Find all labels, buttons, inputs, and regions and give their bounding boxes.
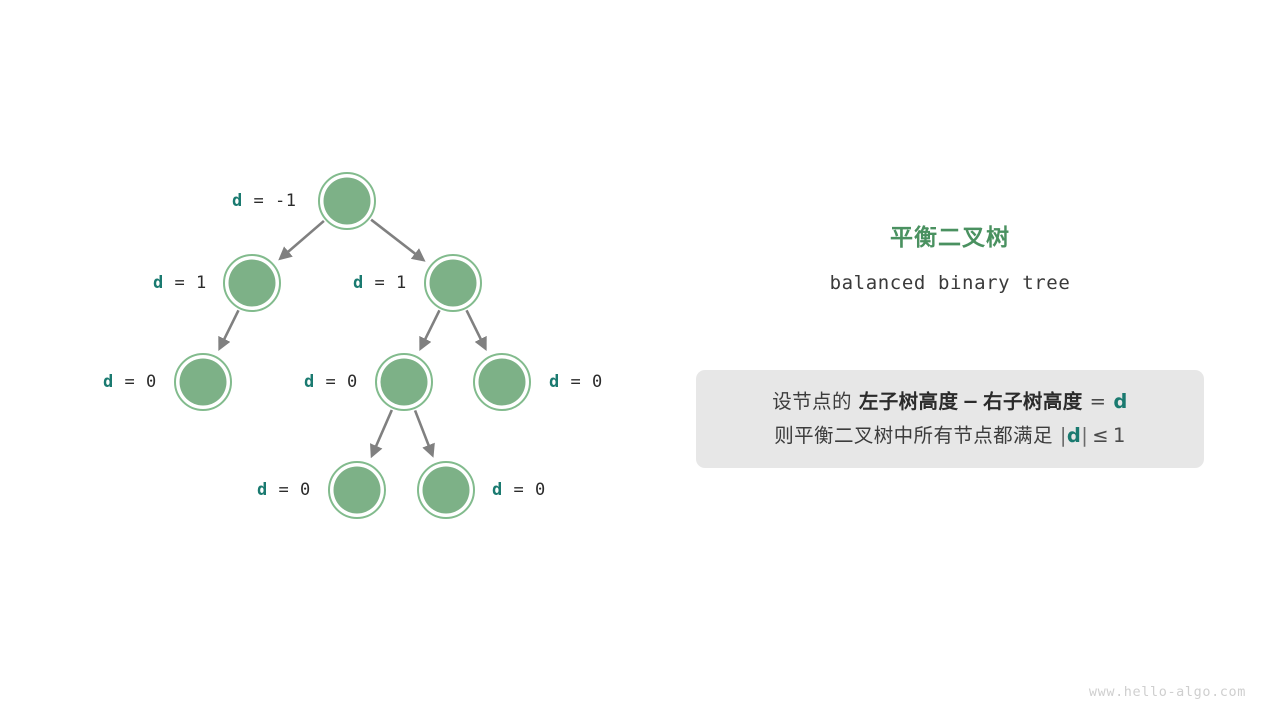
tree-edge xyxy=(280,221,324,259)
binary-tree-graphic xyxy=(0,0,1280,720)
definition-box: 设节点的左子树高度−右子树高度=d 则平衡二叉树中所有节点都满足|d|≤1 xyxy=(696,370,1204,468)
label-value: 0 xyxy=(535,480,546,500)
label-variable: d xyxy=(103,372,114,392)
label-equals: = xyxy=(243,191,275,211)
tree-node-n-ll[interactable] xyxy=(180,359,227,406)
label-equals: = xyxy=(503,480,535,500)
label-equals: = xyxy=(268,480,300,500)
definition-condition-prefix: 则平衡二叉树中所有节点都满足 xyxy=(774,424,1053,447)
label-variable: d xyxy=(353,273,364,293)
balance-factor-label-root: d = -1 xyxy=(232,193,296,210)
equals-operator: = xyxy=(1090,390,1107,413)
label-variable: d xyxy=(257,480,268,500)
label-value: -1 xyxy=(275,191,296,211)
balance-factor-label-n-ll: d = 0 xyxy=(103,374,157,391)
label-variable: d xyxy=(232,191,243,211)
panel-subtitle: balanced binary tree xyxy=(696,272,1204,294)
definition-line-2: 则平衡二叉树中所有节点都满足|d|≤1 xyxy=(774,419,1126,453)
label-value: 1 xyxy=(196,273,207,293)
diagram-canvas: d = -1d = 1d = 1d = 0d = 0d = 0d = 0d = … xyxy=(0,0,1280,720)
balance-factor-symbol: d xyxy=(1113,390,1127,413)
label-equals: = xyxy=(364,273,396,293)
label-variable: d xyxy=(304,372,315,392)
label-value: 0 xyxy=(592,372,603,392)
tree-edge xyxy=(415,410,432,455)
tree-nodes xyxy=(175,173,530,518)
label-equals: = xyxy=(315,372,347,392)
tree-node-n-rlr[interactable] xyxy=(423,467,470,514)
abs-bar-right: | xyxy=(1081,424,1088,447)
minus-operator: − xyxy=(962,390,979,413)
label-value: 0 xyxy=(347,372,358,392)
tree-node-root[interactable] xyxy=(324,178,371,225)
tree-node-n-rl[interactable] xyxy=(381,359,428,406)
balance-factor-label-n-rl: d = 0 xyxy=(304,374,358,391)
tree-node-n-rll[interactable] xyxy=(334,467,381,514)
tree-edge xyxy=(467,310,486,348)
abs-bar-left: | xyxy=(1060,424,1067,447)
label-value: 0 xyxy=(146,372,157,392)
bound-value: 1 xyxy=(1113,424,1126,447)
label-variable: d xyxy=(492,480,503,500)
tree-node-n-l[interactable] xyxy=(229,260,276,307)
label-equals: = xyxy=(560,372,592,392)
definition-line-1: 设节点的左子树高度−右子树高度=d xyxy=(772,385,1128,419)
label-value: 0 xyxy=(300,480,311,500)
tree-edge xyxy=(371,220,423,260)
balance-factor-label-n-rlr: d = 0 xyxy=(492,482,546,499)
label-equals: = xyxy=(114,372,146,392)
label-equals: = xyxy=(164,273,196,293)
panel-title: 平衡二叉树 xyxy=(696,225,1204,253)
definition-prefix: 设节点的 xyxy=(772,390,852,413)
balance-factor-symbol-2: d xyxy=(1067,424,1081,447)
tree-node-n-rr[interactable] xyxy=(479,359,526,406)
tree-edge xyxy=(372,410,392,456)
tree-edge xyxy=(421,310,440,348)
info-panel: 平衡二叉树 balanced binary tree xyxy=(696,225,1204,294)
right-subtree-height-term: 右子树高度 xyxy=(983,390,1083,413)
balance-factor-label-n-l: d = 1 xyxy=(153,275,207,292)
balance-factor-label-n-r: d = 1 xyxy=(353,275,407,292)
label-variable: d xyxy=(549,372,560,392)
less-equal-operator: ≤ xyxy=(1092,424,1109,447)
balance-factor-label-n-rr: d = 0 xyxy=(549,374,603,391)
tree-node-n-r[interactable] xyxy=(430,260,477,307)
tree-edge xyxy=(220,310,239,348)
label-variable: d xyxy=(153,273,164,293)
label-value: 1 xyxy=(396,273,407,293)
left-subtree-height-term: 左子树高度 xyxy=(859,390,959,413)
balance-factor-label-n-rll: d = 0 xyxy=(257,482,311,499)
watermark: www.hello-algo.com xyxy=(1089,684,1246,700)
